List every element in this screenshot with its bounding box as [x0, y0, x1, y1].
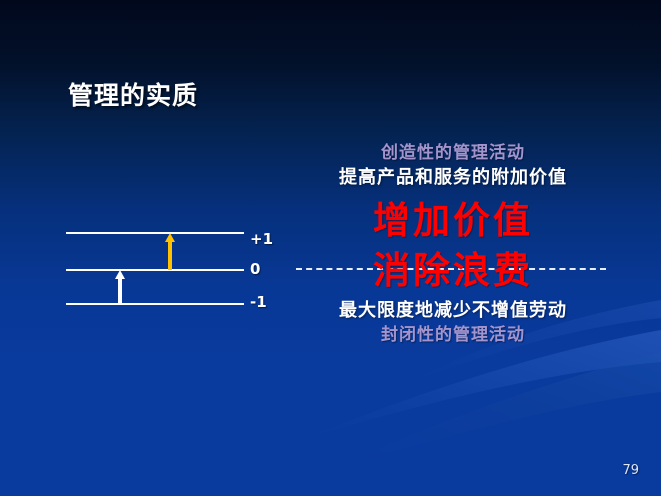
text-closed-management: 封闭性的管理活动 — [288, 324, 618, 347]
level-label-minus1: -1 — [250, 295, 267, 310]
text-add-value-headline: 增加价值 — [288, 199, 618, 243]
level-line-zero — [66, 269, 244, 271]
level-line-plus1 — [66, 232, 244, 234]
level-label-zero: 0 — [250, 262, 260, 277]
level-label-plus1: +1 — [250, 232, 273, 247]
text-creative-management: 创造性的管理活动 — [288, 142, 618, 165]
page-number: 79 — [622, 463, 639, 478]
text-increase-added-value: 提高产品和服务的附加价值 — [288, 165, 618, 191]
slide-canvas: 管理的实质 +1 0 -1 创造性的管理活动 提高产品和服务的附加价值 增加价值… — [0, 0, 661, 496]
level-line-minus1 — [66, 303, 244, 305]
arrow-shaft-white — [118, 278, 122, 304]
arrow-shaft-yellow — [168, 241, 172, 270]
value-scale-diagram: +1 0 -1 — [0, 0, 290, 340]
text-minimize-nonvalue-labor: 最大限度地减少不增值劳动 — [288, 298, 618, 324]
text-eliminate-waste-headline: 消除浪费 — [288, 249, 618, 293]
content-text-column: 创造性的管理活动 提高产品和服务的附加价值 增加价值 消除浪费 最大限度地减少不… — [288, 142, 618, 347]
